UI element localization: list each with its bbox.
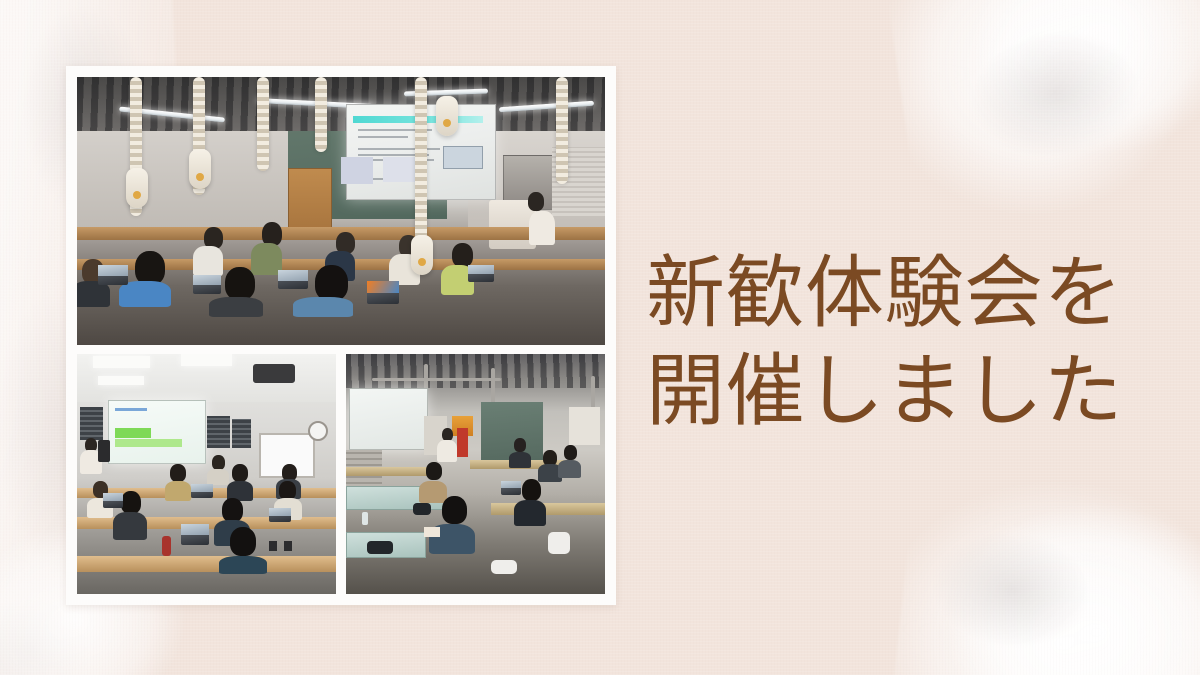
slide-title-line-2: 開催しました [646, 342, 1116, 440]
photo-bottom-left-lecture-room [77, 354, 336, 594]
ceiling-projector-icon [253, 364, 294, 383]
slide-title-line-1: 新歓体験会を [646, 247, 1123, 339]
pendant-lamp-icon [436, 96, 458, 136]
photo-collage [66, 66, 616, 605]
watercolor-wash-top-right-icon [879, 0, 1200, 262]
slide-canvas: 新歓体験会を 開催しました [0, 0, 1200, 675]
watercolor-wash-bottom-right-icon [884, 447, 1200, 675]
projection-screen-icon [108, 400, 206, 464]
projection-screen-icon [349, 388, 429, 450]
photo-bottom-right-workshop [346, 354, 605, 594]
slide-title: 新歓体験会を 開催しました [646, 244, 1116, 440]
photo-top-makerspace [77, 77, 605, 345]
